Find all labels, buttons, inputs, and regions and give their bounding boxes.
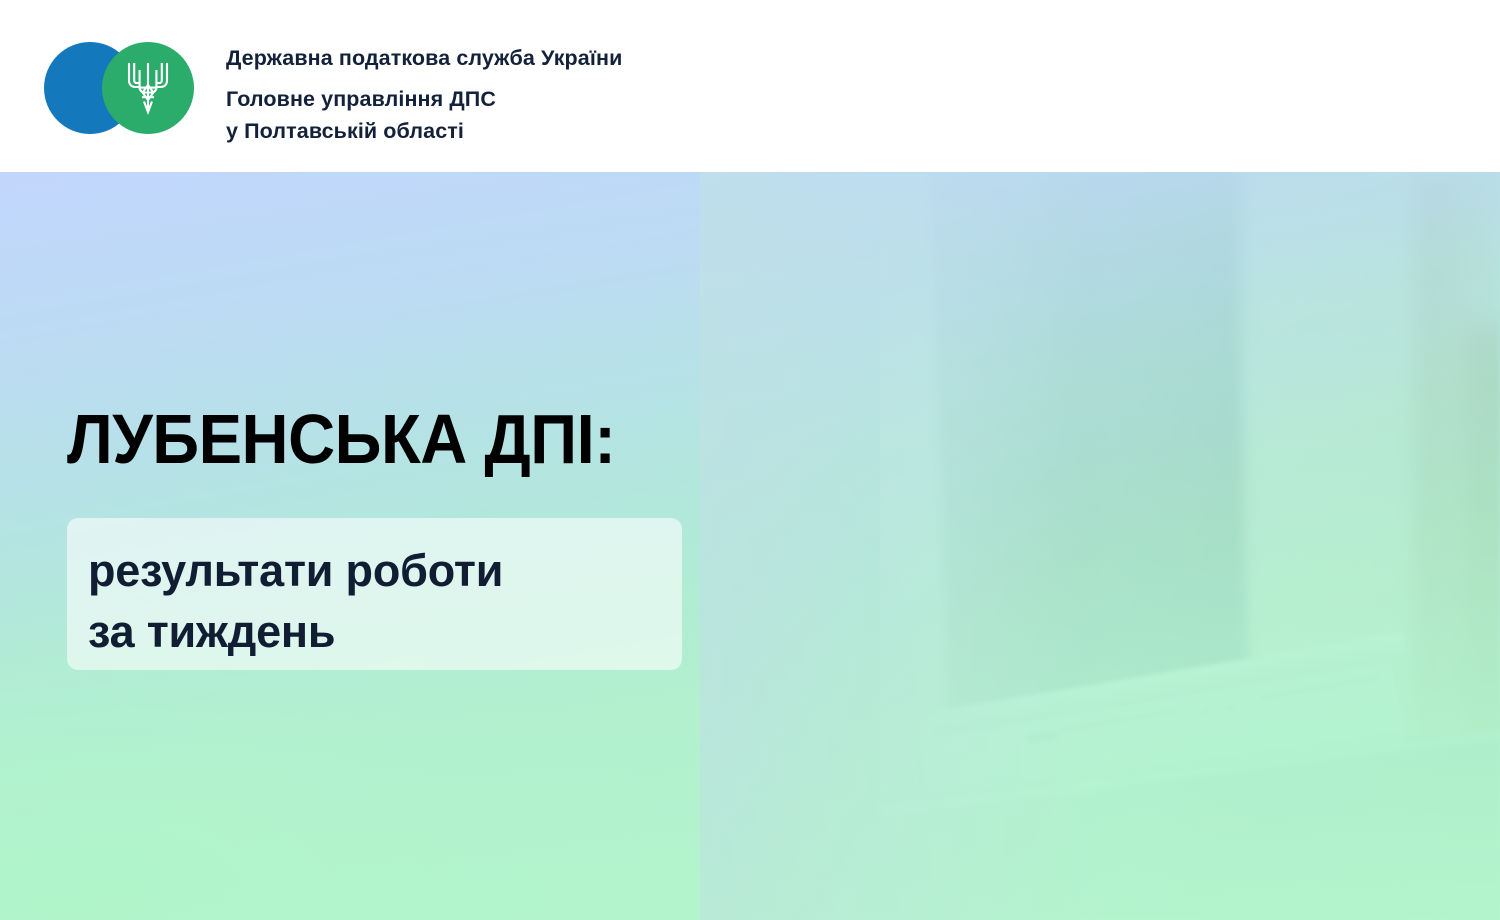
hero-section: ЛУБЕНСЬКА ДПІ: результати роботи за тижд… xyxy=(0,172,1500,920)
org-line-2: Головне управління ДПС xyxy=(226,83,846,115)
subtitle-panel: результати роботи за тиждень xyxy=(67,518,682,670)
page-subtitle: результати роботи за тиждень xyxy=(88,540,503,662)
dps-logo xyxy=(44,42,200,134)
page-title: ЛУБЕНСЬКА ДПІ: xyxy=(67,404,615,474)
site-header: Державна податкова служба України Головн… xyxy=(0,0,1500,172)
banner: Державна податкова служба України Головн… xyxy=(0,0,1500,920)
ukrainian-trident-icon xyxy=(125,61,171,115)
organisation-name: Державна податкова служба України Головн… xyxy=(226,42,846,147)
org-line-1: Державна податкова служба України xyxy=(226,42,846,74)
org-line-3: у Полтавській області xyxy=(226,115,846,147)
